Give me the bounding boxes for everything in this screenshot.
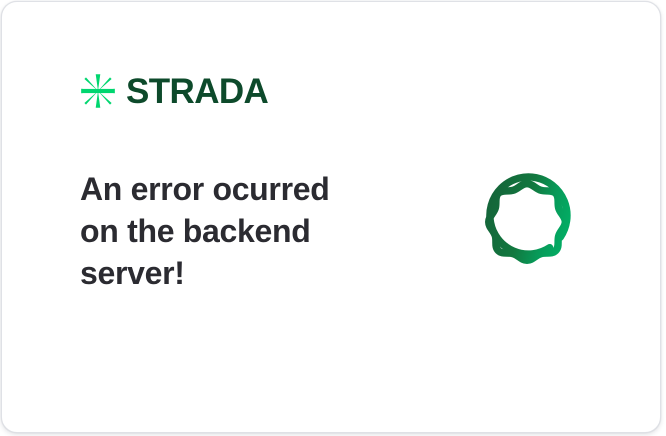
- strada-asterisk-icon: [79, 72, 117, 110]
- brand-lockup: STRADA: [79, 72, 268, 110]
- brand-name: STRADA: [126, 74, 268, 109]
- error-card: STRADA An error ocurred on the backend s…: [1, 1, 661, 433]
- error-message: An error ocurred on the backend server!: [80, 168, 370, 294]
